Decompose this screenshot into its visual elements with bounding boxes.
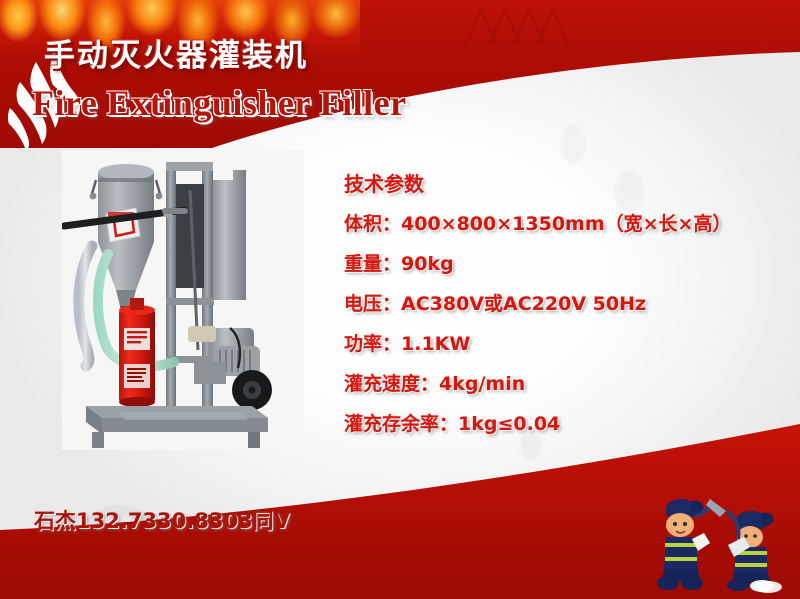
spec-weight: 重量：90kg	[344, 244, 796, 284]
page-title-en: Fire Extinguisher Filler	[32, 82, 407, 124]
contact-info: 石杰132.7330.8303同V	[34, 505, 290, 535]
spec-list: 技术参数 体积：400×800×1350mm（宽×长×高） 重量：90kg 电压…	[344, 164, 796, 444]
banner-decorative-mark	[455, 4, 575, 48]
spec-heading: 技术参数	[344, 164, 796, 204]
spec-filling-speed: 灌充速度：4kg/min	[344, 364, 796, 404]
product-photo	[62, 150, 304, 450]
spec-voltage: 电压：AC380V或AC220V 50Hz	[344, 284, 796, 324]
spec-power: 功率：1.1KW	[344, 324, 796, 364]
firefighter-mascots-icon	[640, 487, 790, 593]
poster-root: 手动灭火器灌装机 Fire Extinguisher Filler	[0, 0, 800, 599]
spec-volume: 体积：400×800×1350mm（宽×长×高）	[344, 204, 796, 244]
page-title-cn: 手动灭火器灌装机	[44, 30, 308, 75]
